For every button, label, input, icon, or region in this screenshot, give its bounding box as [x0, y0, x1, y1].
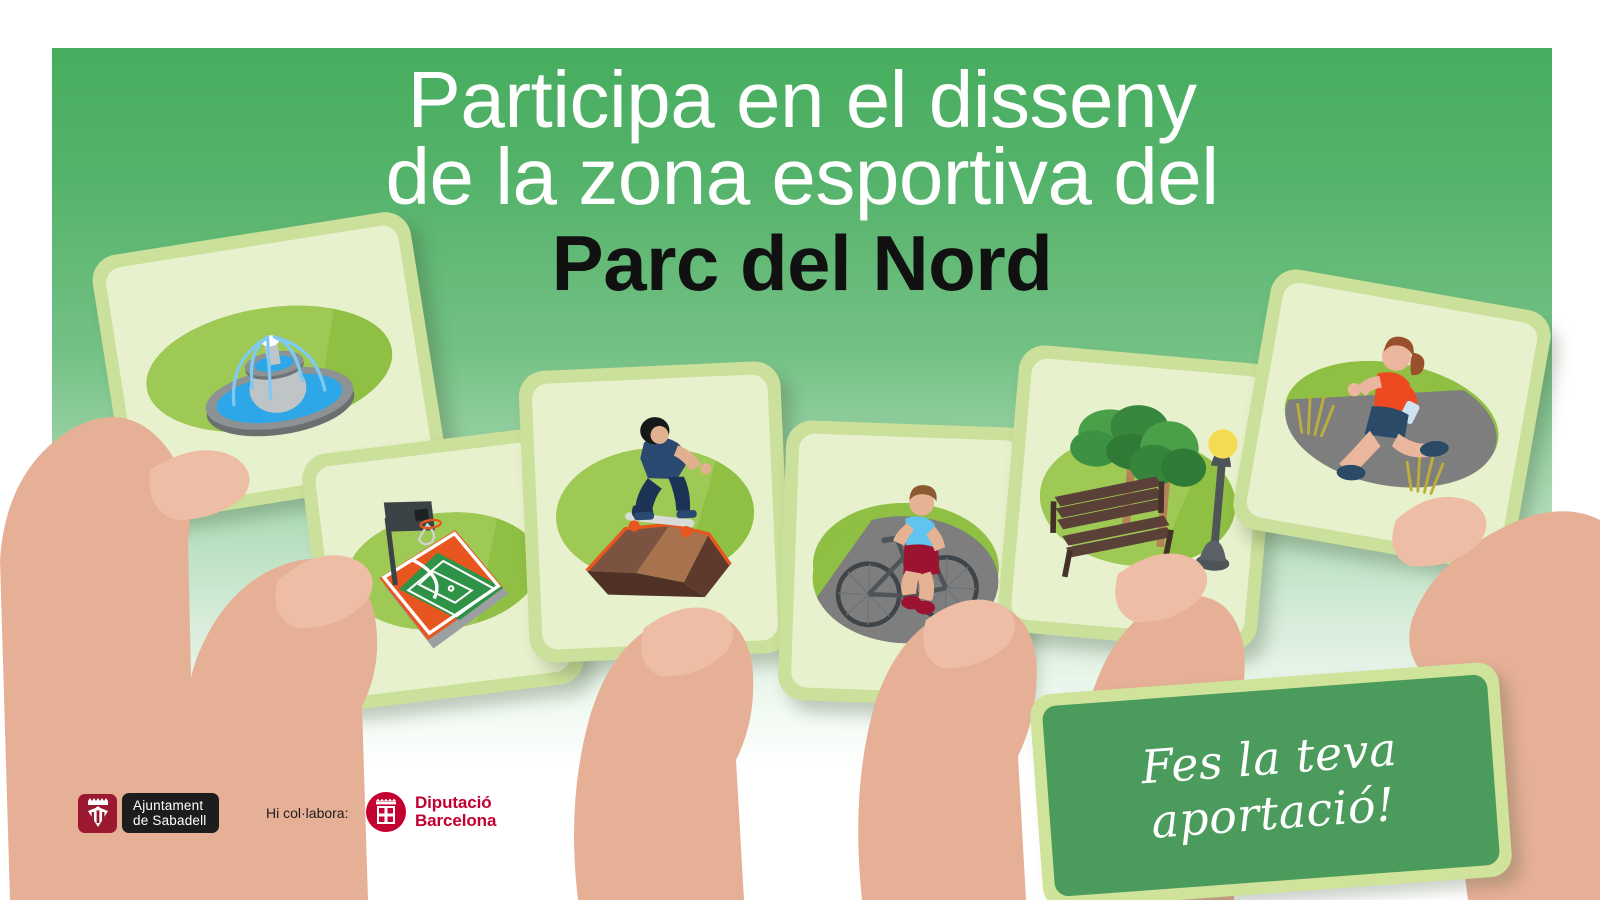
card-running-inner: [1244, 280, 1539, 559]
card-bench-inner: [1010, 357, 1266, 638]
ajuntament-line-2: de Sabadell: [133, 813, 207, 828]
park-bench: [1044, 468, 1178, 587]
ajuntament-line-1: Ajuntament: [133, 798, 207, 813]
runner-icon: [1245, 280, 1540, 557]
skate-ramp: [585, 522, 732, 602]
sabadell-crest-icon: [78, 794, 117, 833]
footer-logos: Ajuntament de Sabadell Hi col·labora:: [0, 780, 1600, 870]
bench-trees-lamp-icon: [1010, 357, 1266, 638]
skateboarder-icon: [531, 374, 778, 650]
diputacio-line-1: Diputació: [415, 794, 496, 813]
skateboarder: [620, 415, 714, 540]
logo-ajuntament-de-sabadell[interactable]: Ajuntament de Sabadell: [78, 793, 219, 833]
logo-diputacio-barcelona[interactable]: Diputació Barcelona: [366, 792, 496, 832]
card-bikelane-inner: [791, 433, 1022, 695]
cyclist-icon: [791, 433, 1022, 695]
ajuntament-wordmark: Ajuntament de Sabadell: [122, 793, 219, 833]
diputacio-line-2: Barcelona: [415, 812, 496, 831]
poster-stage: Participa en el disseny de la zona espor…: [0, 0, 1600, 900]
diputacio-wordmark: Diputació Barcelona: [415, 794, 496, 831]
card-running[interactable]: [1229, 265, 1555, 574]
card-skatepark-inner: [531, 374, 778, 650]
diputacio-crest-icon: [366, 792, 406, 832]
card-bikelane[interactable]: [777, 420, 1035, 708]
collaborates-label: Hi col·labora:: [266, 805, 348, 821]
card-skatepark[interactable]: [518, 360, 792, 663]
